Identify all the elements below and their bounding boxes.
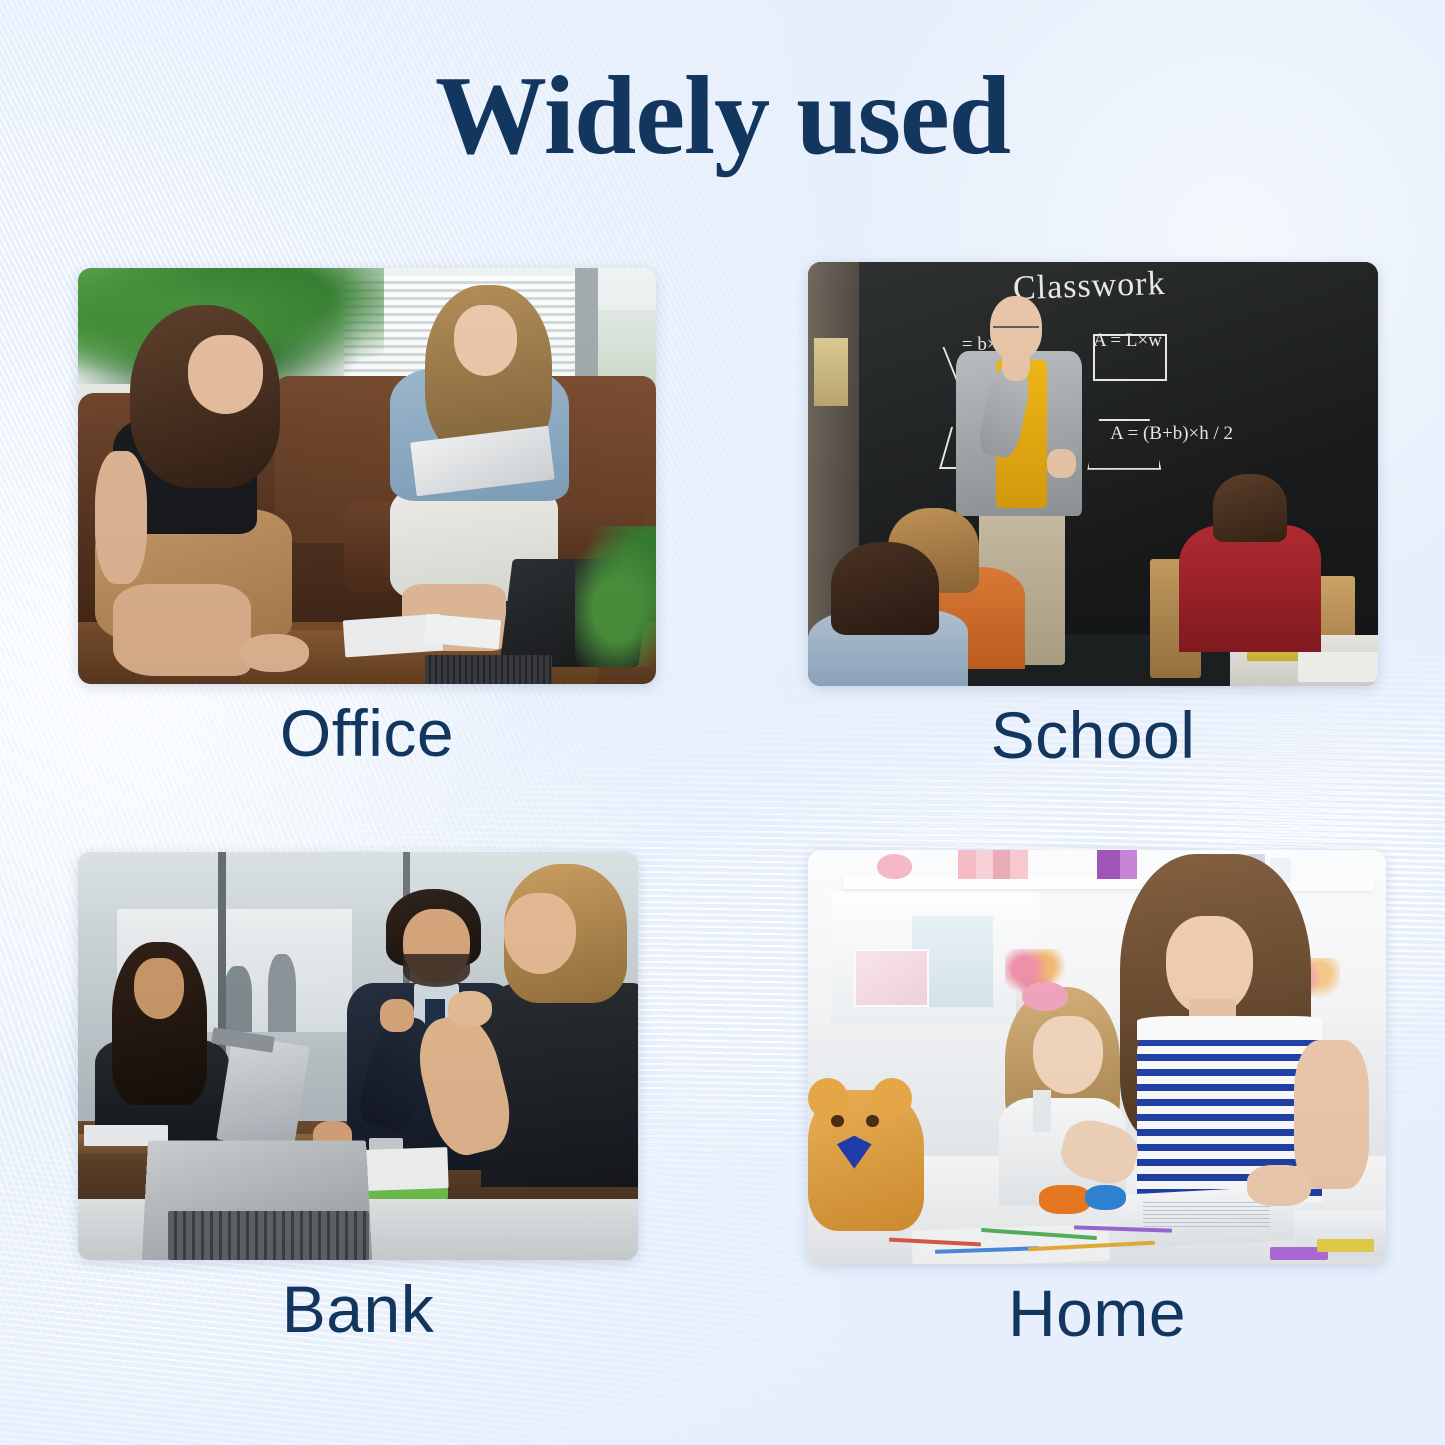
- home-wall-art: [854, 949, 929, 1007]
- use-case-card-bank: Bank: [78, 852, 638, 1345]
- office-plant-front: [575, 526, 656, 667]
- office-scene: [78, 268, 656, 684]
- bank-person-right: [481, 983, 638, 1187]
- photo-office: [78, 268, 656, 684]
- blackboard-formula-2: A = L×w: [1093, 330, 1162, 352]
- caption-school: School: [808, 700, 1378, 771]
- caption-office: Office: [78, 698, 656, 769]
- school-scene: Classwork = b×h / 2 A = L×w M A = (B+b)×…: [808, 262, 1378, 686]
- home-scene: [808, 850, 1386, 1264]
- caption-bank: Bank: [78, 1274, 638, 1345]
- school-student-red: [1179, 525, 1322, 652]
- home-play-dough: [1039, 1185, 1091, 1214]
- blackboard-heading: Classwork: [1013, 262, 1254, 313]
- photo-school: Classwork = b×h / 2 A = L×w M A = (B+b)×…: [808, 262, 1378, 686]
- teacher-glasses: [993, 326, 1039, 339]
- page-title: Widely used: [0, 58, 1445, 176]
- caption-home: Home: [808, 1278, 1386, 1349]
- use-case-card-office: Office: [78, 268, 656, 769]
- use-case-grid: Office Classwork = b×h / 2 A = L×w M: [0, 0, 1445, 1445]
- bank-clipboard: [216, 1034, 310, 1151]
- poster-root: Widely used: [0, 0, 1445, 1445]
- photo-bank: [78, 852, 638, 1260]
- blackboard-formula-3: A = (B+b)×h / 2: [1110, 423, 1233, 445]
- bank-scene: [78, 852, 638, 1260]
- home-hair-bow: [1022, 982, 1068, 1011]
- photo-home: [808, 850, 1386, 1264]
- use-case-card-home: Home: [808, 850, 1386, 1349]
- use-case-card-school: Classwork = b×h / 2 A = L×w M A = (B+b)×…: [808, 262, 1378, 771]
